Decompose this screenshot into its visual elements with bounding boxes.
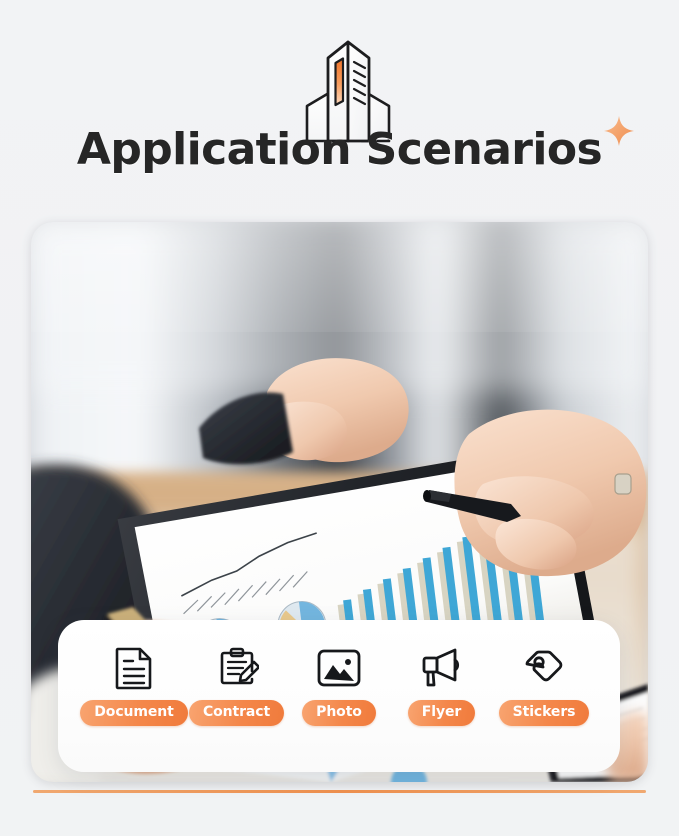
photo-accent-rule <box>33 790 646 793</box>
document-icon <box>114 642 154 694</box>
title-row: Application Scenarios <box>0 128 679 172</box>
category-label-photo: Photo <box>302 700 376 726</box>
header: Application Scenarios <box>0 0 679 222</box>
category-label-document: Document <box>80 700 187 726</box>
title-wrap: Application Scenarios <box>77 128 602 172</box>
application-scenarios-page: Application Scenarios <box>0 0 679 836</box>
category-label-contract: Contract <box>189 700 284 726</box>
category-item-document[interactable]: Document <box>84 642 184 726</box>
sparkle-icon <box>602 114 636 148</box>
page-title: Application Scenarios <box>77 124 602 175</box>
category-panel: Document Contract <box>58 620 620 772</box>
category-item-stickers[interactable]: Stickers <box>494 642 594 726</box>
image-icon <box>316 642 362 694</box>
category-label-stickers: Stickers <box>499 700 590 726</box>
category-item-flyer[interactable]: Flyer <box>392 642 492 726</box>
category-item-contract[interactable]: Contract <box>187 642 287 726</box>
tag-icon <box>523 642 565 694</box>
category-item-photo[interactable]: Photo <box>289 642 389 726</box>
clipboard-pencil-icon <box>215 642 259 694</box>
category-label-flyer: Flyer <box>408 700 475 726</box>
megaphone-icon <box>419 642 465 694</box>
